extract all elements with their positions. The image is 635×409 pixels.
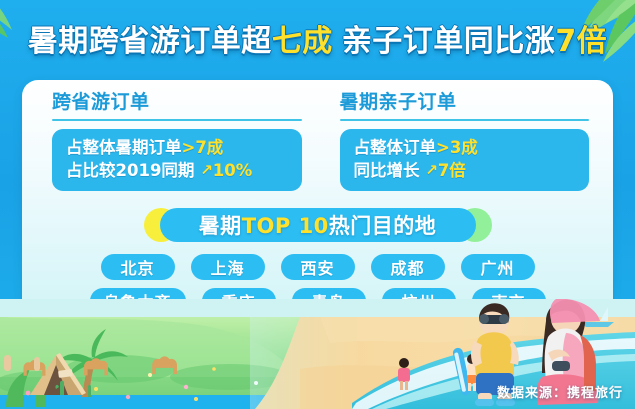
stat-label: 占比较2019同期 [66, 161, 194, 180]
panel-title: 暑期亲子订单 [340, 92, 590, 113]
banner-prefix: 暑期 [199, 214, 242, 238]
stat-symbol: > [436, 138, 450, 157]
stat-label: 同比增长 [354, 161, 420, 180]
city-pill[interactable]: 广州 [461, 254, 535, 280]
source-attribution: 数据来源：携程旅行 [497, 382, 623, 401]
city-row-1: 北京 上海 西安 成都 广州 [22, 254, 613, 280]
city-pill[interactable]: 北京 [101, 254, 175, 280]
city-pill[interactable]: 成都 [371, 254, 445, 280]
panel-divider [52, 119, 302, 121]
stat-line: 占整体订单>3成 [354, 136, 576, 159]
banner-pill: 暑期TOP 10热门目的地 [160, 208, 476, 242]
content-card: 跨省游订单 占整体暑期订单>7成 占比较2019同期 ↗10% 暑期亲子订单 [22, 80, 613, 332]
panel-title: 跨省游订单 [52, 92, 302, 113]
page-title: 暑期跨省游订单超七成亲子订单同比涨7倍 [0, 27, 635, 57]
panel-divider [340, 119, 590, 121]
panel-cross-province-orders: 跨省游订单 占整体暑期订单>7成 占比较2019同期 ↗10% [22, 92, 318, 191]
city-pill[interactable]: 上海 [191, 254, 265, 280]
poster-root: 暑期跨省游订单超七成亲子订单同比涨7倍 跨省游订单 占整体暑期订单>7成 占比较… [0, 0, 635, 409]
banner-highlight: TOP 10 [242, 214, 329, 238]
city-pill[interactable]: 西安 [281, 254, 355, 280]
stat-panels: 跨省游订单 占整体暑期订单>7成 占比较2019同期 ↗10% 暑期亲子订单 [22, 92, 613, 191]
stat-box: 占整体订单>3成 同比增长 ↗7倍 [340, 129, 590, 191]
stat-value: 3成 [450, 138, 478, 157]
stat-line: 占比较2019同期 ↗10% [66, 159, 288, 182]
stat-label: 占整体暑期订单 [66, 138, 182, 157]
stat-symbol: > [182, 138, 196, 157]
headline-highlight1: 七成 [272, 24, 333, 59]
banner-suffix: 热门目的地 [329, 214, 437, 238]
trend-up-arrow-icon: ↗ [425, 160, 438, 181]
trend-up-arrow-icon: ↗ [200, 160, 213, 181]
top-destinations-banner: 暑期TOP 10热门目的地 [22, 208, 613, 248]
panel-family-orders: 暑期亲子订单 占整体订单>3成 同比增长 ↗7倍 [318, 92, 614, 191]
stat-box: 占整体暑期订单>7成 占比较2019同期 ↗10% [52, 129, 302, 191]
stat-value: 7成 [195, 138, 223, 157]
beach-scene-illustration: 数据来源：携程旅行 [0, 299, 635, 409]
stat-line: 同比增长 ↗7倍 [354, 159, 576, 182]
banner-label: 暑期TOP 10热门目的地 [199, 210, 437, 240]
stat-label: 占整体订单 [354, 138, 437, 157]
headline-part2: 亲子订单同比涨 [342, 24, 556, 59]
headline-highlight2: 7倍 [555, 24, 607, 59]
stat-value: 10% [213, 161, 253, 180]
stat-line: 占整体暑期订单>7成 [66, 136, 288, 159]
headline-part1: 暑期跨省游订单超 [28, 24, 272, 59]
stat-value: 7倍 [438, 161, 466, 180]
